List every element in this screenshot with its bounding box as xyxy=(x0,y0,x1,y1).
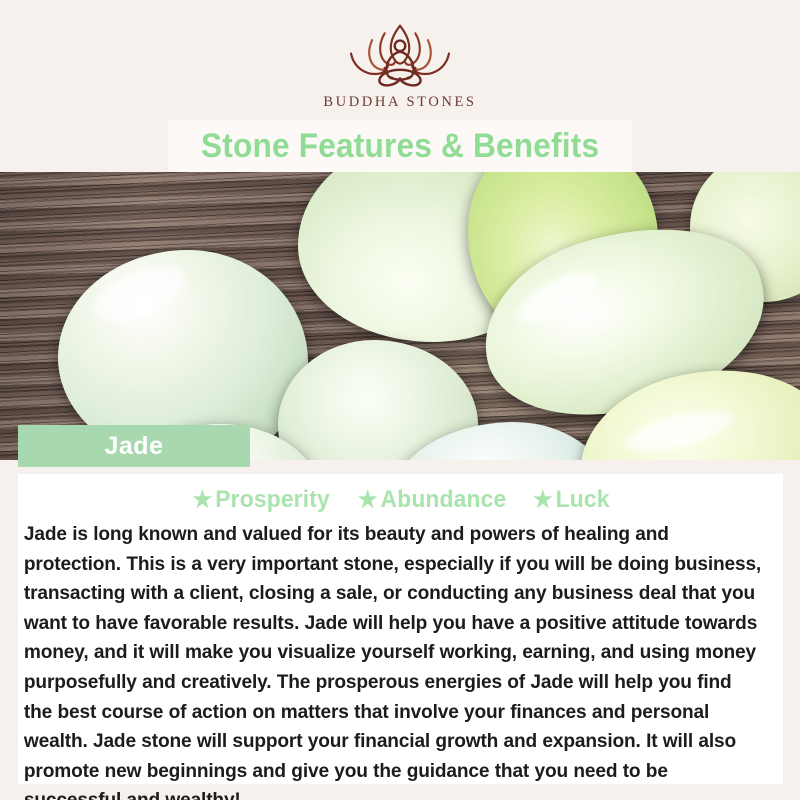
text-panel: ★Prosperity ★Abundance ★Luck Jade is lon… xyxy=(18,474,783,784)
keyword-item-prosperity: ★Prosperity xyxy=(193,486,330,514)
keyword-label: Abundance xyxy=(381,486,507,513)
stone-photo xyxy=(0,172,800,460)
poster-root: BUDDHA STONES Stone Features & Benefits … xyxy=(0,0,800,800)
stone-description: Jade is long known and valued for its be… xyxy=(18,516,772,800)
keyword-item-abundance: ★Abundance xyxy=(358,486,506,514)
stone-name-badge: Jade xyxy=(18,425,250,467)
star-icon: ★ xyxy=(358,486,378,513)
keyword-list: ★Prosperity ★Abundance ★Luck xyxy=(18,474,783,516)
brand-logo: BUDDHA STONES xyxy=(0,18,800,111)
lotus-meditation-icon xyxy=(325,18,475,90)
content-section: ★Prosperity ★Abundance ★Luck Jade is lon… xyxy=(0,460,800,800)
keyword-item-luck: ★Luck xyxy=(533,486,610,514)
star-icon: ★ xyxy=(533,486,553,513)
title-banner: Stone Features & Benefits xyxy=(168,120,632,172)
page-title: Stone Features & Benefits xyxy=(201,127,599,166)
keyword-label: Luck xyxy=(556,486,610,513)
brand-name: BUDDHA STONES xyxy=(0,94,800,111)
keyword-label: Prosperity xyxy=(216,486,331,513)
stone-name: Jade xyxy=(105,432,164,461)
star-icon: ★ xyxy=(193,486,213,513)
